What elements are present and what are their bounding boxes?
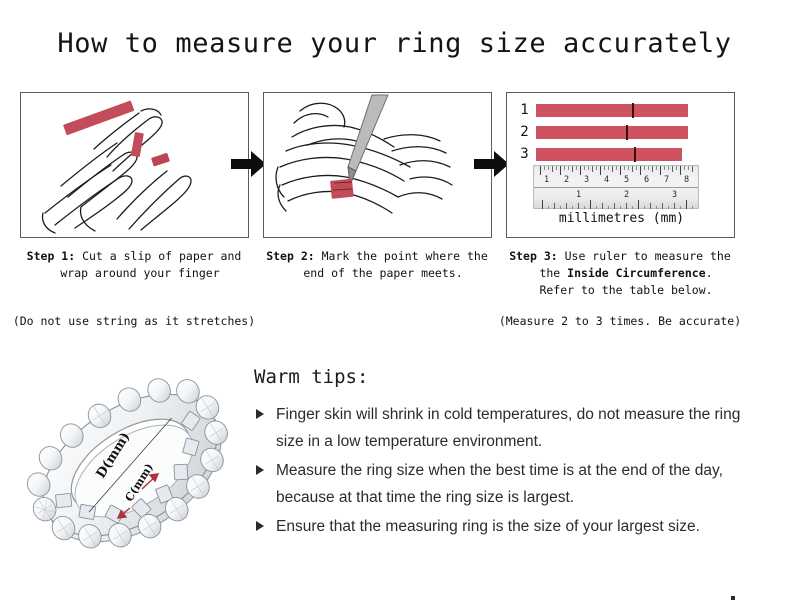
triangle-bullet-icon bbox=[256, 409, 264, 419]
ruler-cm-tick: 4 bbox=[604, 176, 609, 185]
step-3-caption: Step 3: Use ruler to measure the the Ins… bbox=[500, 248, 740, 299]
step-2-text-line2: end of the paper meets. bbox=[257, 265, 497, 282]
ruler-cm-scale: 1 2 3 4 5 6 7 8 bbox=[534, 166, 698, 187]
ruler-cm-tick: 7 bbox=[664, 176, 669, 185]
strip-number: 3 bbox=[517, 146, 532, 162]
tip-text: Finger skin will shrink in cold temperat… bbox=[276, 406, 740, 450]
arrow-step2-to-step3-icon bbox=[474, 148, 510, 180]
tip-item: Ensure that the measuring ring is the si… bbox=[254, 514, 746, 541]
hand-marking-with-pen-icon bbox=[264, 93, 491, 237]
strip-bar bbox=[536, 126, 688, 139]
ruler-inch-tick: 2 bbox=[624, 191, 629, 200]
triangle-bullet-icon bbox=[256, 465, 264, 475]
step-1-text-line2: wrap around your finger bbox=[14, 265, 254, 282]
warm-tips-section: Warm tips: Finger skin will shrink in co… bbox=[254, 366, 754, 544]
step-3-note: (Measure 2 to 3 times. Be accurate) bbox=[497, 314, 743, 328]
page-title: How to measure your ring size accurately bbox=[0, 28, 789, 59]
strip-bar bbox=[536, 148, 682, 161]
ruler-cm-tick: 2 bbox=[564, 176, 569, 185]
ruler-cm-tick: 8 bbox=[684, 176, 689, 185]
inside-circumference-emphasis: Inside Circumference bbox=[567, 266, 705, 280]
triangle-bullet-icon bbox=[256, 521, 264, 531]
step-1-illustration-panel bbox=[20, 92, 249, 238]
hand-with-paper-strip-icon bbox=[21, 93, 248, 237]
step-3-text-line2-pre: the bbox=[539, 266, 567, 280]
tip-item: Finger skin will shrink in cold temperat… bbox=[254, 402, 746, 455]
strip-row: 2 bbox=[517, 124, 729, 140]
step-3-text-line2-post: . bbox=[706, 266, 713, 280]
tip-item: Measure the ring size when the best time… bbox=[254, 458, 746, 511]
ruler-inch-tick: 3 bbox=[672, 191, 677, 200]
step-1-text-line1: Cut a slip of paper and bbox=[82, 249, 241, 263]
tip-text: Measure the ring size when the best time… bbox=[276, 462, 723, 506]
strip-mark-icon bbox=[632, 103, 634, 118]
ruler-inch-tick: 1 bbox=[576, 191, 581, 200]
ruler-cm-tick: 1 bbox=[544, 176, 549, 185]
strip-mark-icon bbox=[626, 125, 628, 140]
ruler-icon: 1 2 3 4 5 6 7 8 1 2 3 bbox=[533, 165, 699, 209]
strip-row: 1 bbox=[517, 102, 729, 118]
tip-text: Ensure that the measuring ring is the si… bbox=[276, 518, 700, 535]
warm-tips-heading: Warm tips: bbox=[254, 366, 754, 388]
step-2-caption: Step 2: Mark the point where the end of … bbox=[257, 248, 497, 282]
millimetres-label: millimetres (mm) bbox=[507, 211, 735, 226]
step-3-label: Step 3: bbox=[509, 249, 557, 263]
strip-number: 2 bbox=[517, 124, 532, 140]
step-1-note: (Do not use string as it stretches) bbox=[11, 314, 257, 328]
ruler-inch-scale: 1 2 3 bbox=[534, 187, 698, 209]
step-1-label: Step 1: bbox=[27, 249, 75, 263]
ring-diagram: D(mm) C(mm) bbox=[22, 356, 247, 586]
step-1-caption: Step 1: Cut a slip of paper and wrap aro… bbox=[14, 248, 254, 282]
measured-paper-strips: 1 2 3 bbox=[517, 102, 729, 168]
step-2-illustration-panel bbox=[263, 92, 492, 238]
corner-artifact bbox=[731, 596, 735, 600]
step-2-text-line1: Mark the point where the bbox=[322, 249, 488, 263]
step-3-illustration-panel: 1 2 3 bbox=[506, 92, 735, 238]
strip-number: 1 bbox=[517, 102, 532, 118]
strip-mark-icon bbox=[634, 147, 636, 162]
strip-row: 3 bbox=[517, 146, 729, 162]
ruler-cm-tick: 5 bbox=[624, 176, 629, 185]
step-2-label: Step 2: bbox=[266, 249, 314, 263]
strip-bar bbox=[536, 104, 688, 117]
ruler-cm-tick: 6 bbox=[644, 176, 649, 185]
diamond-eternity-ring-icon bbox=[22, 356, 247, 586]
ruler-cm-tick: 3 bbox=[584, 176, 589, 185]
steps-section: 1 2 3 bbox=[0, 92, 789, 342]
arrow-step1-to-step2-icon bbox=[231, 148, 267, 180]
step-3-text-line3: Refer to the table below. bbox=[500, 282, 740, 299]
step-3-text-line1: Use ruler to measure the bbox=[565, 249, 731, 263]
